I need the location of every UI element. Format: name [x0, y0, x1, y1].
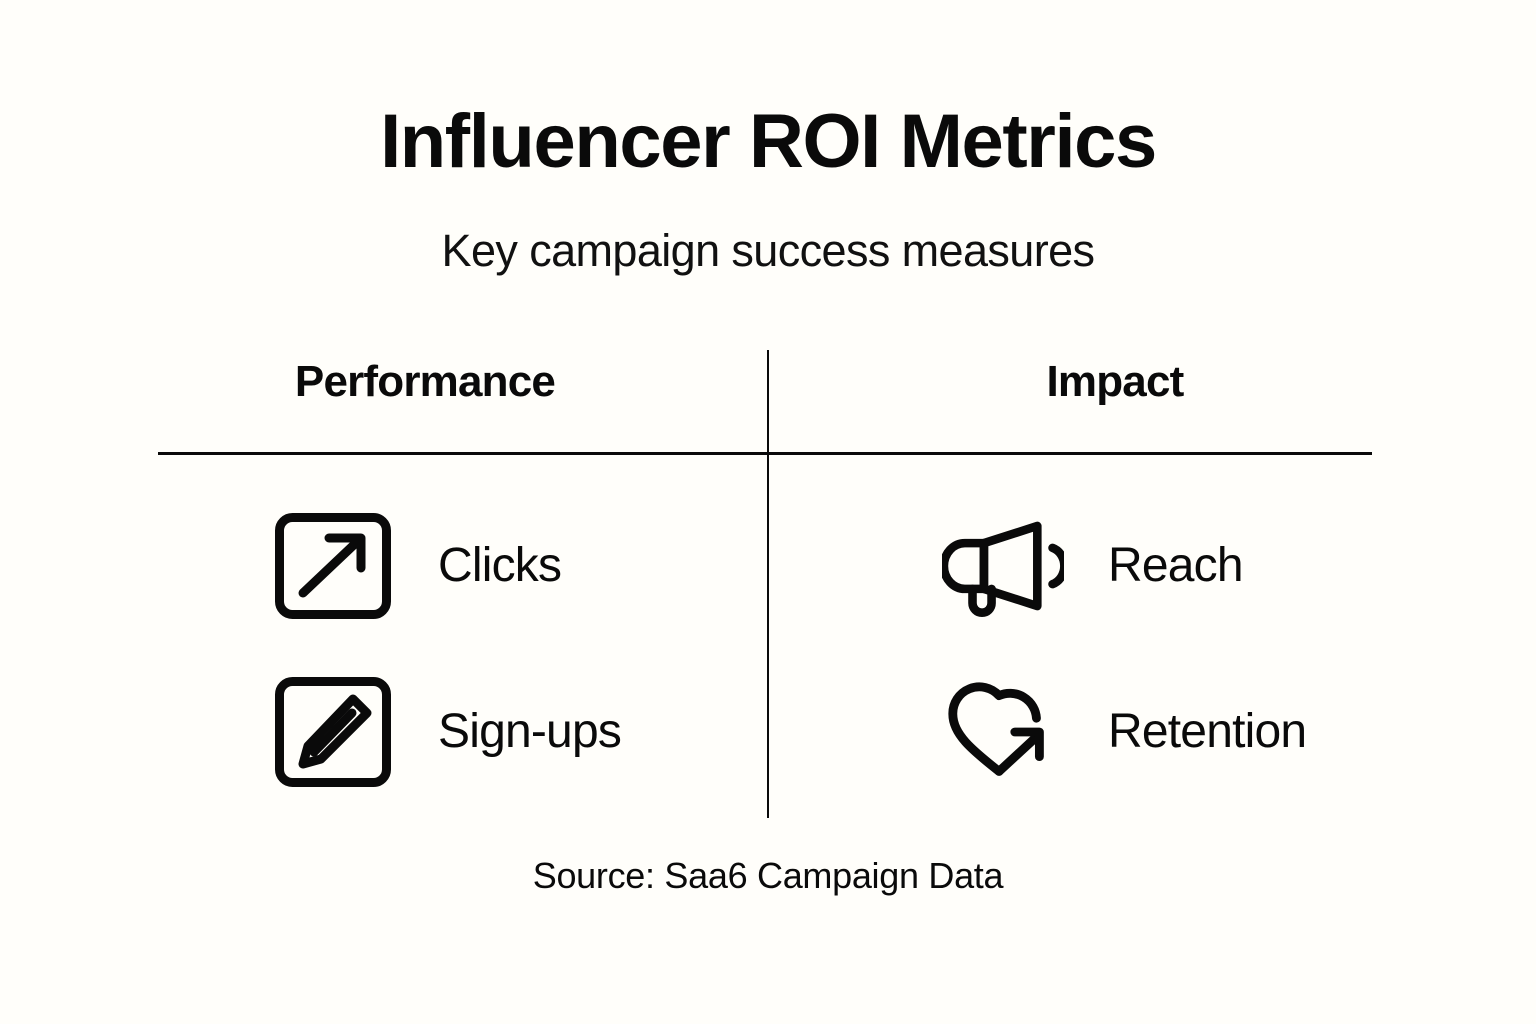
metric-list-performance: Clicks Sign-ups — [120, 504, 730, 794]
column-header-performance: Performance — [120, 360, 730, 416]
pencil-square-icon — [272, 676, 394, 788]
metric-row[interactable]: Reach — [810, 504, 1420, 628]
metric-list-impact: Reach Retention — [810, 504, 1420, 794]
metric-row[interactable]: Sign-ups — [120, 670, 730, 794]
column-performance: Performance Clicks — [120, 360, 730, 836]
heart-arrow-icon — [942, 676, 1064, 788]
metric-label: Reach — [1108, 542, 1243, 590]
infographic-root: Influencer ROI Metrics Key campaign succ… — [0, 0, 1536, 1024]
vertical-divider — [767, 350, 769, 818]
megaphone-icon — [942, 510, 1064, 622]
metric-label: Clicks — [438, 542, 561, 590]
column-header-impact: Impact — [810, 360, 1420, 416]
page-subtitle: Key campaign success measures — [0, 228, 1536, 273]
metric-row[interactable]: Clicks — [120, 504, 730, 628]
metric-label: Sign-ups — [438, 708, 621, 756]
metric-row[interactable]: Retention — [810, 670, 1420, 794]
source-caption: Source: Saa6 Campaign Data — [0, 858, 1536, 894]
arrow-up-right-square-icon — [272, 510, 394, 622]
metric-label: Retention — [1108, 708, 1306, 756]
page-title: Influencer ROI Metrics — [0, 104, 1536, 180]
column-impact: Impact Reach — [810, 360, 1420, 836]
